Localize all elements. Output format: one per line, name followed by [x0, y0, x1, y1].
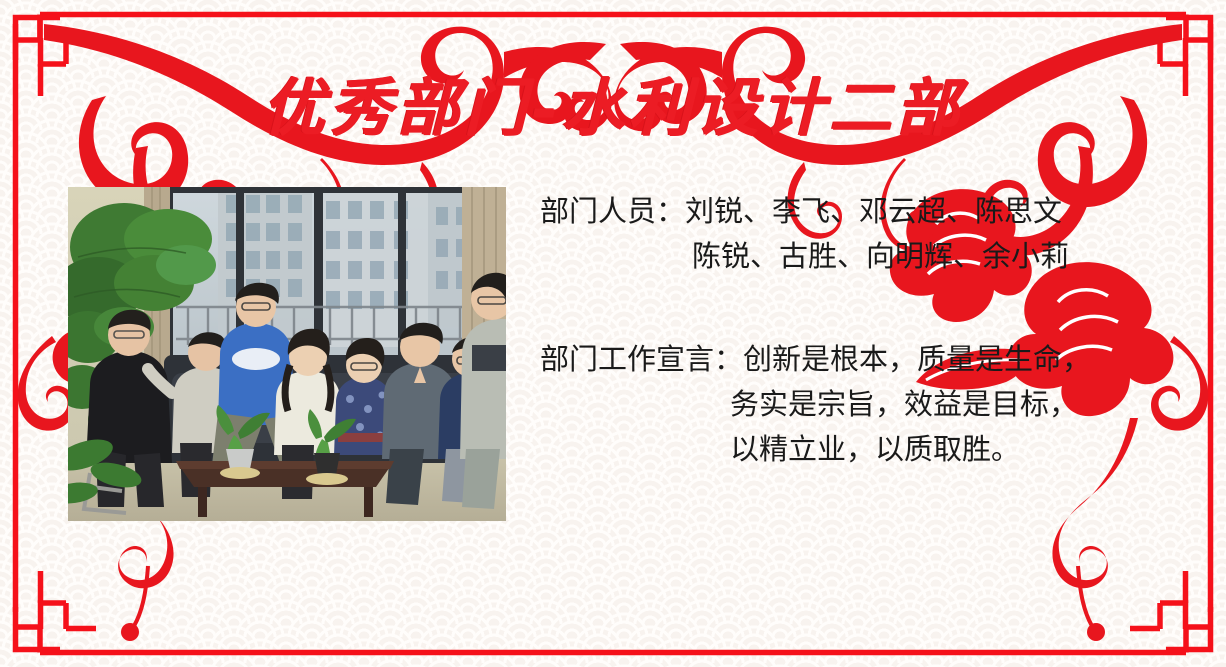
declaration-block: 部门工作宣言：创新是根本，质量是生命， 务实是宗旨，效益是目标， 以精立业，以质…: [540, 338, 1180, 473]
personnel-line-2: 陈锐、古胜、向明辉、余小莉: [540, 235, 1180, 280]
slide-text-column: 部门人员：刘锐、李飞、邓云超、陈思文 陈锐、古胜、向明辉、余小莉 部门工作宣言：…: [540, 190, 1180, 473]
personnel-line-1: 部门人员：刘锐、李飞、邓云超、陈思文: [540, 190, 1180, 235]
declaration-line-2: 务实是宗旨，效益是目标，: [540, 383, 1180, 428]
declaration-line-3: 以精立业，以质取胜。: [540, 428, 1180, 473]
department-team-group-photo: [68, 187, 506, 521]
slide-canvas: 优秀部门-水利设计二部: [0, 0, 1226, 667]
page-title: 优秀部门-水利设计二部: [0, 72, 1226, 144]
declaration-line-1: 部门工作宣言：创新是根本，质量是生命，: [540, 338, 1180, 383]
team-photo-illustration: [68, 187, 506, 521]
personnel-block: 部门人员：刘锐、李飞、邓云超、陈思文 陈锐、古胜、向明辉、余小莉: [540, 190, 1180, 280]
text-spacer: [540, 280, 1180, 338]
